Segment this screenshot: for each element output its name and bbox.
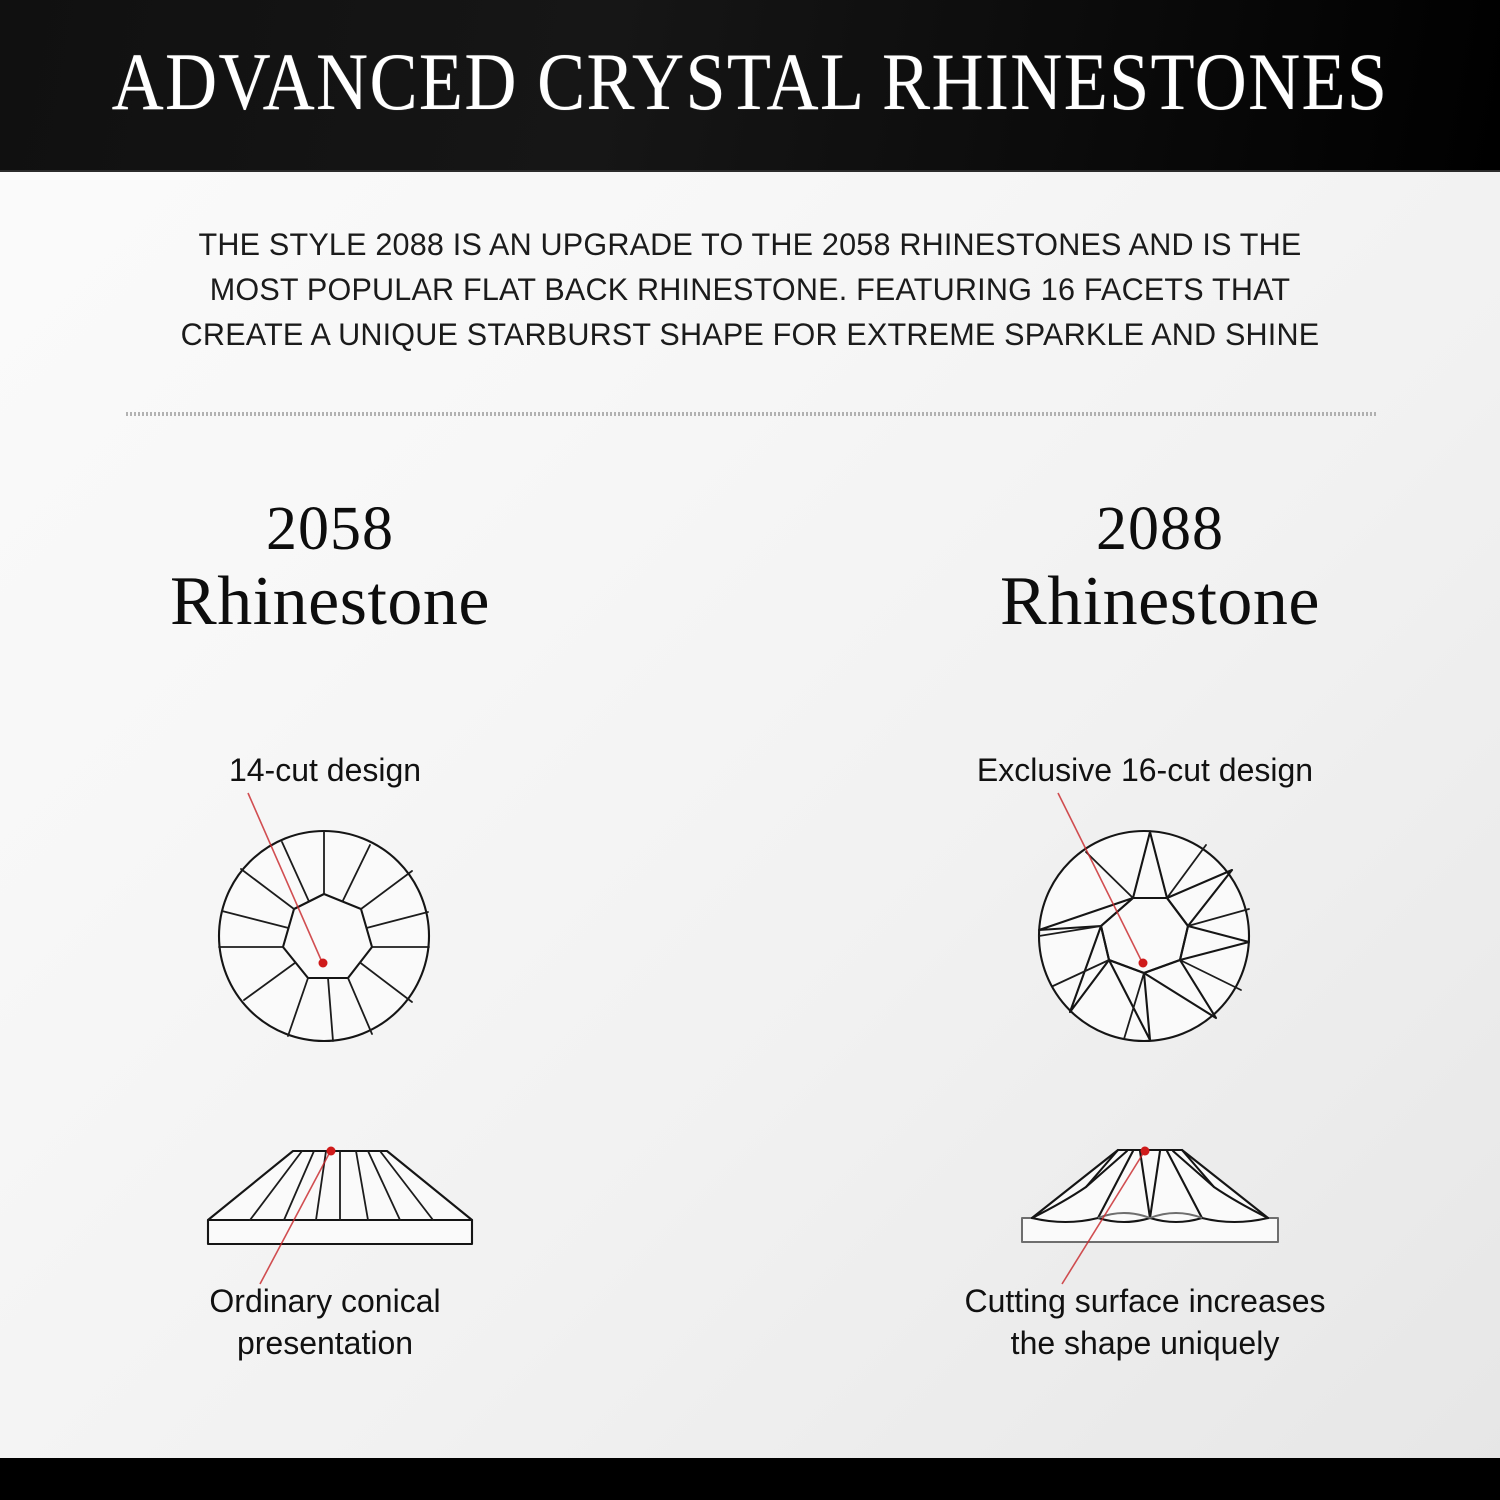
- intro-paragraph: THE STYLE 2088 IS AN UPGRADE TO THE 2058…: [139, 222, 1361, 357]
- intro-line-1: THE STYLE 2088 IS AN UPGRADE TO THE 2058…: [139, 222, 1361, 267]
- intro-line-2: MOST POPULAR FLAT BACK RHINESTONE. FEATU…: [139, 267, 1361, 312]
- diagram-2058-side-view: [190, 1130, 490, 1290]
- infographic-page: ADVANCED CRYSTAL RHINESTONES THE STYLE 2…: [0, 0, 1500, 1500]
- caption-right: Cutting surface increases the shape uniq…: [800, 1280, 1490, 1364]
- column-heading-left: 2058 Rhinestone: [10, 492, 650, 642]
- header-band: ADVANCED CRYSTAL RHINESTONES: [0, 0, 1500, 172]
- column-heading-right: 2088 Rhinestone: [840, 492, 1480, 642]
- bottom-bar: [0, 1458, 1500, 1500]
- callout-label-right-top: Exclusive 16-cut design: [800, 750, 1490, 790]
- caption-right-line-1: Cutting surface increases: [800, 1280, 1490, 1322]
- faceted-profile: [1022, 1150, 1278, 1242]
- caption-right-line-2: the shape uniquely: [800, 1322, 1490, 1364]
- caption-left-line-1: Ordinary conical: [60, 1280, 590, 1322]
- caption-left-line-2: presentation: [60, 1322, 590, 1364]
- conical-profile: [208, 1151, 472, 1244]
- diagram-2088-side-view: [1000, 1130, 1300, 1290]
- column-left-word: Rhinestone: [10, 562, 650, 642]
- rhinestone-2088-facets: [1039, 831, 1249, 1041]
- caption-left: Ordinary conical presentation: [60, 1280, 590, 1364]
- intro-line-3: CREATE A UNIQUE STARBURST SHAPE FOR EXTR…: [139, 312, 1361, 357]
- column-right-word: Rhinestone: [840, 562, 1480, 642]
- page-title: ADVANCED CRYSTAL RHINESTONES: [90, 34, 1410, 130]
- diagram-2058-top-view: [200, 790, 460, 1060]
- callout-label-left-top: 14-cut design: [60, 750, 590, 790]
- rhinestone-2058-facets: [219, 831, 429, 1041]
- dotted-divider: [126, 412, 1376, 416]
- column-right-number: 2088: [840, 492, 1480, 566]
- pointer-dot-left-top: [319, 959, 328, 968]
- column-left-number: 2058: [10, 492, 650, 566]
- diagram-2088-top-view: [1020, 790, 1280, 1060]
- pointer-dot-right-top: [1139, 959, 1148, 968]
- pointer-dot-right-side: [1141, 1147, 1150, 1156]
- pointer-dot-left-side: [327, 1147, 336, 1156]
- header-divider: [0, 170, 1500, 172]
